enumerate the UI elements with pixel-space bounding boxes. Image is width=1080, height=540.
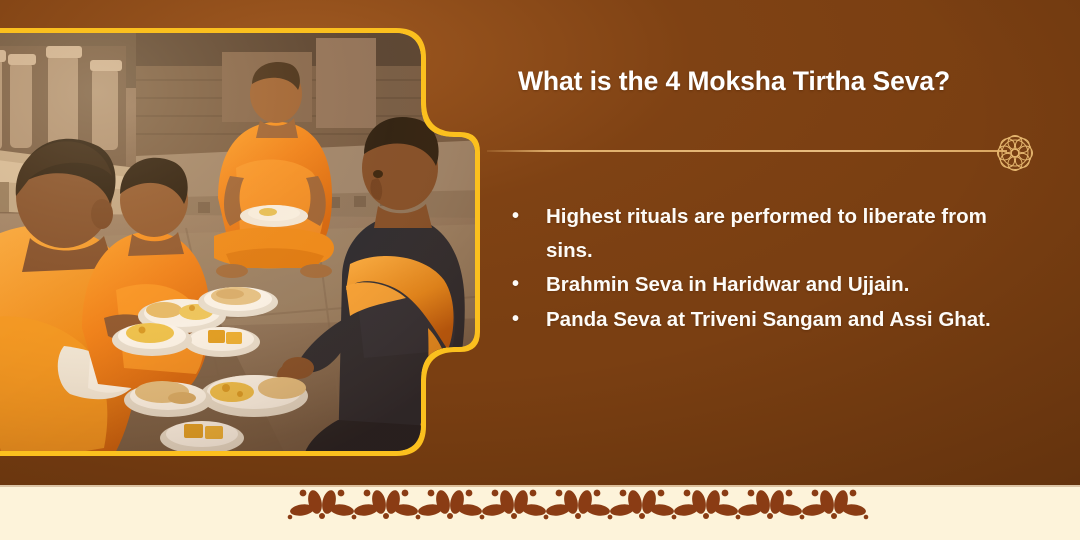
list-item: • Brahmin Seva in Haridwar and Ujjain. [512,268,1032,302]
footer-bar [0,485,1080,540]
bullet-list: • Highest rituals are performed to liber… [512,200,1032,337]
list-item: • Panda Seva at Triveni Sangam and Assi … [512,303,1032,337]
slide-root: What is the 4 Moksha Tirtha Seva? • High… [0,0,1080,540]
footer-motif-unit [672,489,741,519]
footer-motif-unit [480,489,549,519]
list-item: • Highest rituals are performed to liber… [512,200,1032,268]
bullet-marker-icon: • [512,303,532,336]
page-title: What is the 4 Moksha Tirtha Seva? [518,66,1038,98]
priests-sharing-meal-photo [0,28,480,456]
list-item-label: Brahmin Seva in Haridwar and Ujjain. [546,268,1032,302]
bullet-marker-icon: • [512,200,532,233]
footer-motif-unit [288,489,357,519]
footer-motif-unit [736,489,805,519]
title-divider [487,150,1007,152]
footer-motif-unit [800,489,869,519]
lotus-leaf-motif-icon [0,485,1080,540]
footer-motif-unit [608,489,677,519]
footer-motif-unit [352,489,421,519]
photo-card [0,28,480,456]
footer-motif-unit [416,489,485,519]
mandala-rosette-icon [990,128,1040,178]
list-item-label: Panda Seva at Triveni Sangam and Assi Gh… [546,303,1032,337]
footer-motif-unit [544,489,613,519]
footer-ornament-band [0,485,1080,540]
bullet-marker-icon: • [512,268,532,301]
list-item-label: Highest rituals are performed to liberat… [546,200,1032,268]
